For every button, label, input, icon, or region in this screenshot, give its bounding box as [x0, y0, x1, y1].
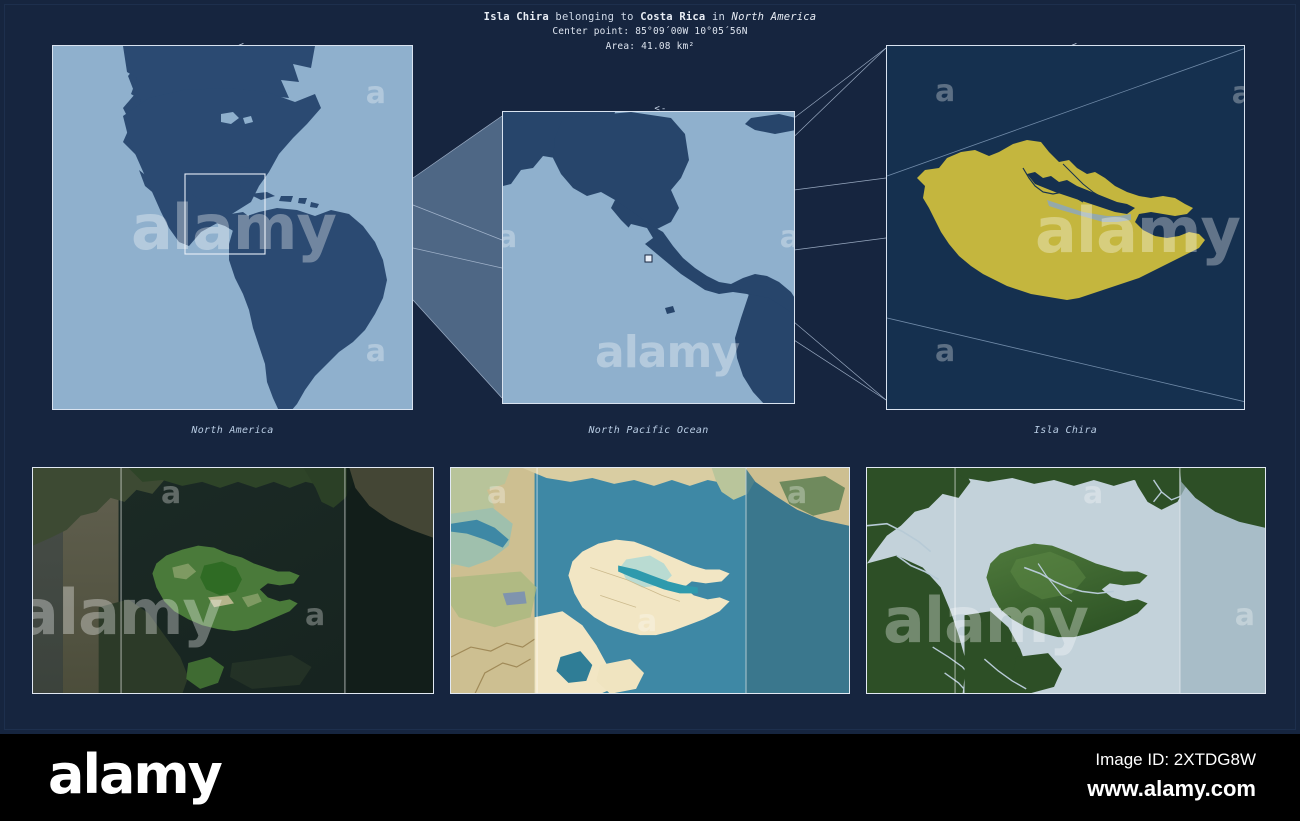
alamy-logo[interactable]: alamy [48, 748, 221, 802]
center-point-label: Center point: [552, 26, 629, 37]
thumbnail-physical-relief-map[interactable]: alamy a a [866, 467, 1266, 694]
caption-world: North America [52, 425, 413, 436]
area-label: Area: [606, 41, 636, 52]
satellite-divider-2 [344, 468, 345, 694]
physical-divider-1 [955, 468, 956, 694]
region-location-marker [645, 255, 652, 262]
alamy-website-label[interactable]: www.alamy.com [1087, 776, 1256, 802]
area-value: 41.08 km² [641, 41, 694, 52]
world-map-svg [53, 46, 413, 410]
street-divider-1 [537, 468, 538, 694]
street-west-pond [503, 591, 527, 605]
physical-thumb-svg [867, 468, 1265, 694]
title-belonging-text: belonging to [555, 11, 633, 23]
map-panel-world[interactable]: a a alamy [52, 45, 413, 410]
title-in-text: in [712, 11, 725, 23]
physical-divider-2 [1179, 468, 1180, 694]
satellite-thumb-svg [33, 468, 433, 694]
map-panel-region[interactable]: alamy a a [502, 111, 795, 404]
thumbnail-satellite-imagery[interactable]: alamy a a [32, 467, 434, 694]
title-continent: North America [732, 11, 817, 23]
region-map-svg [503, 112, 795, 404]
street-divider-2 [746, 468, 747, 694]
figure-canvas: Isla Chira belonging to Costa Rica in No… [0, 0, 1300, 734]
title-subject: Isla Chira [484, 11, 549, 23]
street-thumb-svg [451, 468, 849, 694]
satellite-divider-1 [121, 468, 122, 694]
island-map-svg [887, 46, 1245, 410]
caption-island: Isla Chira [886, 425, 1245, 436]
map-panel-island[interactable]: a a a alamy [886, 45, 1245, 410]
page-title: Isla Chira belonging to Costa Rica in No… [0, 9, 1300, 25]
image-id-label: Image ID: 2XTDG8W [1095, 750, 1256, 770]
alamy-footer-bar: alamy Image ID: 2XTDG8W www.alamy.com [0, 734, 1300, 821]
caption-region: North Pacific Ocean [502, 425, 795, 436]
title-country: Costa Rica [640, 11, 705, 23]
thumbnail-street-map[interactable]: a a a [450, 467, 850, 694]
center-point-value: 85°09´00W 10°05´56N [635, 26, 747, 37]
